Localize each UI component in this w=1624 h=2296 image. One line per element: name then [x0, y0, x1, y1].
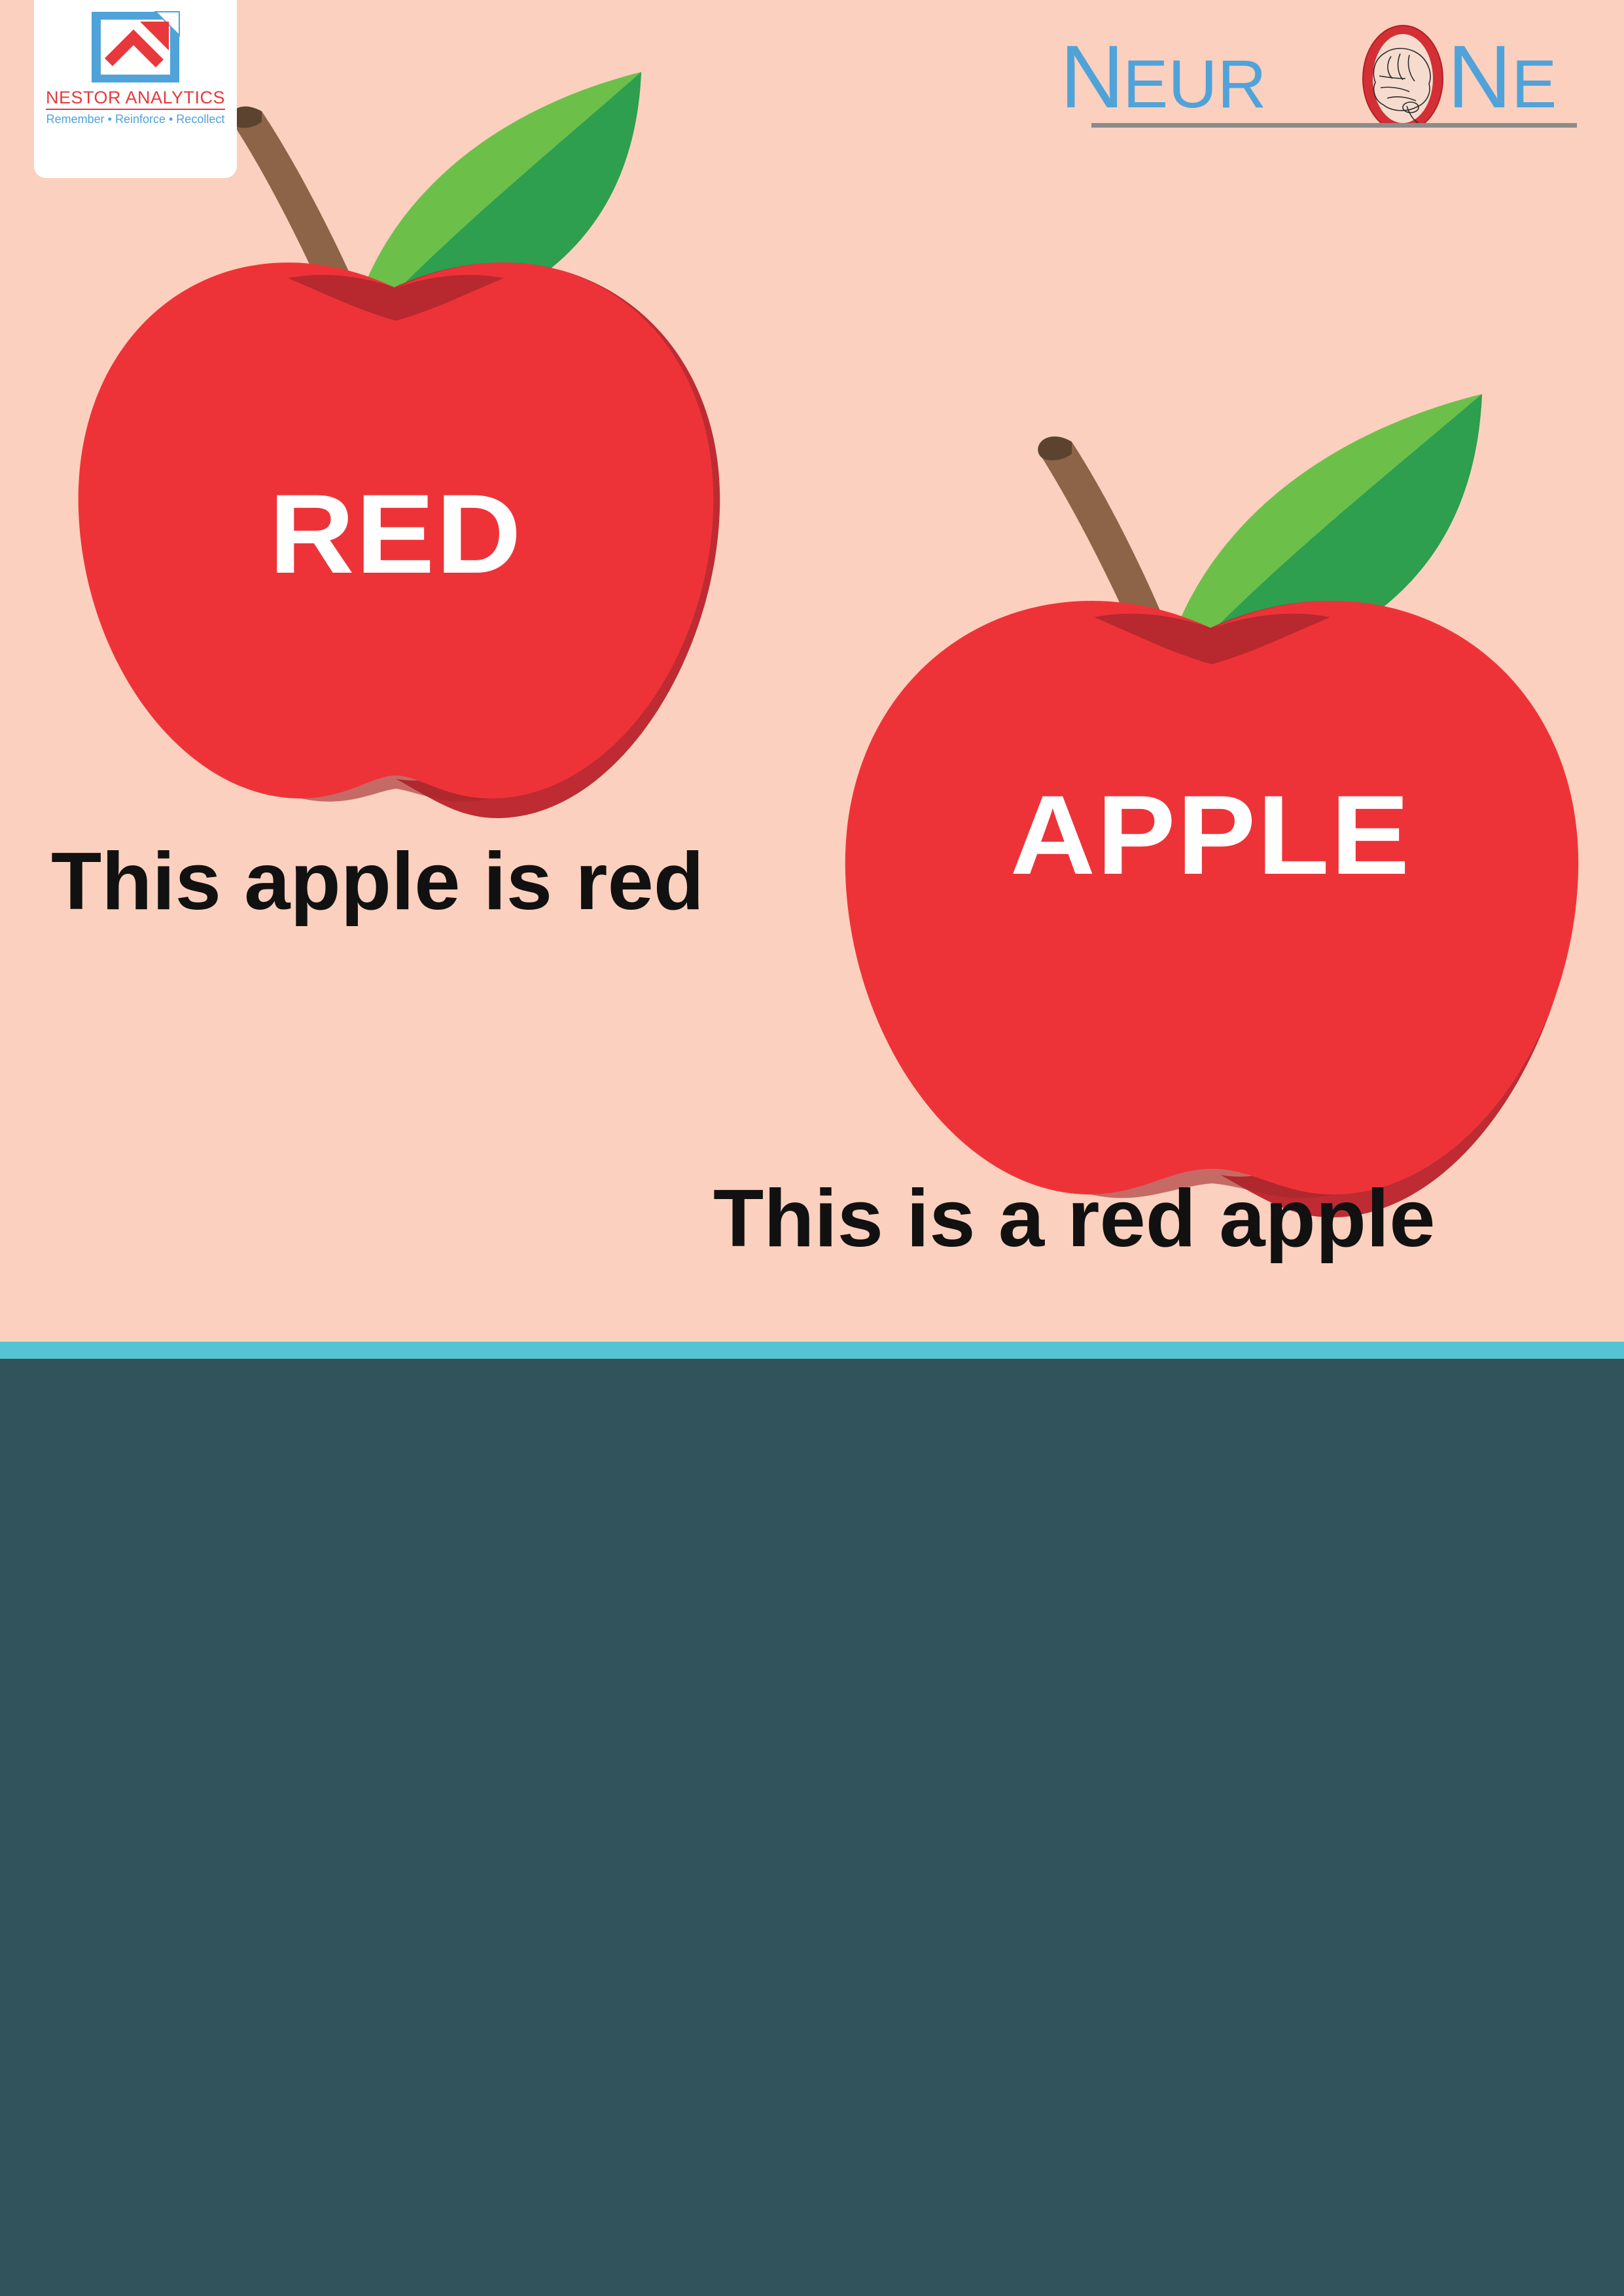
accent-divider-stripe [0, 1342, 1624, 1359]
svg-text:E: E [1511, 46, 1557, 122]
chevron-roof-mark-icon [86, 8, 185, 86]
svg-text:N: N [1447, 27, 1511, 123]
neurone-wordmark-icon: N EUR N E [1060, 25, 1577, 123]
neurone-underline-rule [1091, 123, 1577, 128]
apple-2-word-label: APPLE [812, 779, 1609, 891]
nestor-logo-name: NESTOR ANALYTICS [46, 88, 225, 110]
neurone-logo: N EUR N E [1060, 25, 1577, 149]
nestor-logo-tagline: Remember • Reinforce • Recollect [46, 113, 225, 126]
apple-2-caption: This is a red apple [713, 1178, 1436, 1259]
svg-text:EUR: EUR [1123, 46, 1267, 122]
apple-1-caption: This apple is red [51, 841, 704, 922]
fact-panel: How does the brain perceive when you say… [0, 1359, 1624, 2296]
svg-text:N: N [1060, 27, 1124, 123]
nestor-analytics-logo: NESTOR ANALYTICS Remember • Reinforce • … [34, 0, 237, 178]
apple-1-word-label: RED [49, 478, 743, 590]
top-illustration-section: RED APPLE This apple is red This is a re… [0, 0, 1624, 1342]
